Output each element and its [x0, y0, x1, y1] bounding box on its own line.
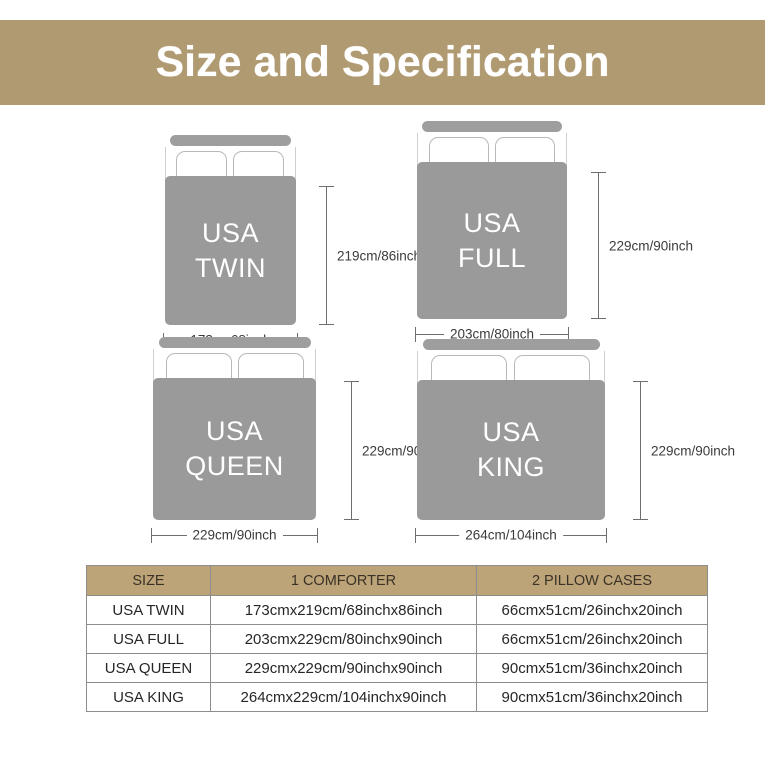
dimension-height-usa-king: 229cm/90inch — [625, 381, 655, 520]
cell-comforter: 173cmx219cm/68inchx86inch — [211, 596, 477, 625]
headboard — [422, 121, 562, 132]
table-header-pillow-cases: 2 PILLOW CASES — [477, 566, 708, 596]
cell-pillow-cases: 66cmx51cm/26inchx20inch — [477, 625, 708, 654]
cell-size: USA QUEEN — [87, 654, 211, 683]
bed-label-line1: USA — [482, 415, 539, 450]
dimension-shaft — [640, 381, 641, 520]
comforter: USA TWIN — [165, 176, 296, 325]
specification-table: SIZE 1 COMFORTER 2 PILLOW CASES USA TWIN… — [86, 565, 708, 712]
dimension-height-usa-twin: 219cm/86inch — [311, 186, 341, 325]
dimension-width-usa-king: 264cm/104inch — [415, 526, 607, 544]
dimension-cap-bottom — [319, 324, 334, 325]
headboard — [170, 135, 291, 146]
bed-label-line2: KING — [477, 450, 545, 485]
dimension-height-usa-queen: 229cm/90inch — [336, 381, 366, 520]
bed-diagrams-area: USA TWIN 219cm/86inch 173cm68inch USA FU — [0, 105, 765, 560]
dimension-cap-top — [319, 186, 334, 187]
dimension-shaft — [326, 186, 327, 325]
cell-pillow-cases: 66cmx51cm/26inchx20inch — [477, 596, 708, 625]
header-banner: Size and Specification — [0, 20, 765, 105]
dimension-width-usa-queen: 229cm/90inch — [151, 526, 318, 544]
dimension-cap-top — [633, 381, 648, 382]
cell-size: USA KING — [87, 683, 211, 712]
dimension-cap-top — [591, 172, 606, 173]
dimension-width-label: 229cm/90inch — [186, 528, 282, 543]
bed-illustration-usa-queen: USA QUEEN — [153, 337, 316, 520]
cell-pillow-cases: 90cmx51cm/36inchx20inch — [477, 683, 708, 712]
dimension-shaft — [351, 381, 352, 520]
bed-label-line1: USA — [463, 206, 520, 241]
cell-comforter: 264cmx229cm/104inchx90inch — [211, 683, 477, 712]
bed-illustration-usa-full: USA FULL — [417, 121, 567, 319]
bed-diagram-usa-queen: USA QUEEN 229cm/90inch 229cm/90inch — [153, 337, 443, 557]
cell-comforter: 229cmx229cm/90inchx90inch — [211, 654, 477, 683]
bed-illustration-usa-twin: USA TWIN — [165, 135, 296, 325]
dimension-cap-bottom — [344, 519, 359, 520]
dimension-height-label: 219cm/86inch — [335, 245, 423, 266]
bed-label-line1: USA — [206, 414, 263, 449]
table-row: USA KING 264cmx229cm/104inchx90inch 90cm… — [87, 683, 708, 712]
bed-label-line1: USA — [202, 216, 259, 251]
headboard — [159, 337, 311, 348]
table-header-row: SIZE 1 COMFORTER 2 PILLOW CASES — [87, 566, 708, 596]
table-header-comforter: 1 COMFORTER — [211, 566, 477, 596]
dimension-height-label: 229cm/90inch — [607, 235, 695, 256]
headboard — [423, 339, 600, 350]
bed-diagram-usa-full: USA FULL 229cm/90inch 203cm/80inch — [417, 121, 717, 351]
bed-label-line2: QUEEN — [185, 449, 284, 484]
comforter: USA QUEEN — [153, 378, 316, 520]
bed-illustration-usa-king: USA KING — [417, 339, 605, 520]
dimension-cap-bottom — [591, 318, 606, 319]
dimension-height-usa-full: 229cm/90inch — [583, 172, 613, 319]
table-row: USA QUEEN 229cmx229cm/90inchx90inch 90cm… — [87, 654, 708, 683]
dimension-cap-left — [151, 528, 152, 543]
dimension-cap-left — [415, 528, 416, 543]
bed-diagram-usa-twin: USA TWIN 219cm/86inch 173cm68inch — [165, 135, 425, 355]
bed-label-line2: TWIN — [195, 251, 266, 286]
comforter: USA KING — [417, 380, 605, 520]
table-row: USA FULL 203cmx229cm/80inchx90inch 66cmx… — [87, 625, 708, 654]
table-header-size: SIZE — [87, 566, 211, 596]
comforter: USA FULL — [417, 162, 567, 319]
dimension-cap-right — [606, 528, 607, 543]
cell-size: USA FULL — [87, 625, 211, 654]
dimension-cap-top — [344, 381, 359, 382]
table-row: USA TWIN 173cmx219cm/68inchx86inch 66cmx… — [87, 596, 708, 625]
cell-comforter: 203cmx229cm/80inchx90inch — [211, 625, 477, 654]
dimension-cap-bottom — [633, 519, 648, 520]
dimension-height-label: 229cm/90inch — [649, 440, 737, 461]
page-title: Size and Specification — [156, 41, 610, 84]
cell-pillow-cases: 90cmx51cm/36inchx20inch — [477, 654, 708, 683]
dimension-cap-right — [317, 528, 318, 543]
cell-size: USA TWIN — [87, 596, 211, 625]
bed-label-line2: FULL — [458, 241, 526, 276]
dimension-shaft — [598, 172, 599, 319]
bed-diagram-usa-king: USA KING 229cm/90inch 264cm/104inch — [417, 339, 727, 559]
dimension-width-label: 264cm/104inch — [459, 528, 563, 543]
